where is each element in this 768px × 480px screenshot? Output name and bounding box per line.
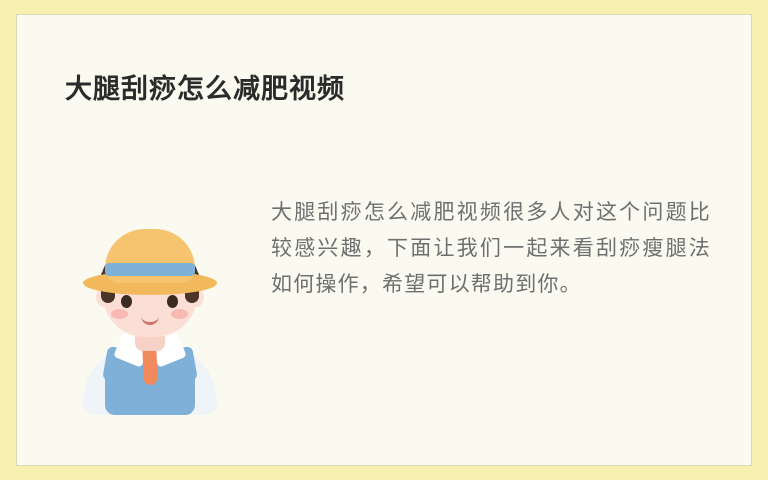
article-body: 大腿刮痧怎么减肥视频很多人对这个问题比较感兴趣，下面让我们一起来看刮痧瘦腿法如何…: [271, 195, 711, 303]
eye-left-shape: [121, 295, 132, 308]
page-background: 大腿刮痧怎么减肥视频: [0, 0, 768, 480]
cheek-left-shape: [111, 309, 128, 319]
cheek-right-shape: [171, 309, 188, 319]
eye-right-shape: [167, 295, 178, 308]
article-content: 大腿刮痧怎么减肥视频很多人对这个问题比较感兴趣，下面让我们一起来看刮痧瘦腿法如何…: [65, 195, 711, 415]
page-title: 大腿刮痧怎么减肥视频: [65, 73, 345, 105]
article-card: 大腿刮痧怎么减肥视频: [16, 14, 752, 466]
hat-band-shape: [105, 263, 195, 276]
avatar: [65, 195, 235, 415]
boy-illustration: [65, 195, 235, 415]
